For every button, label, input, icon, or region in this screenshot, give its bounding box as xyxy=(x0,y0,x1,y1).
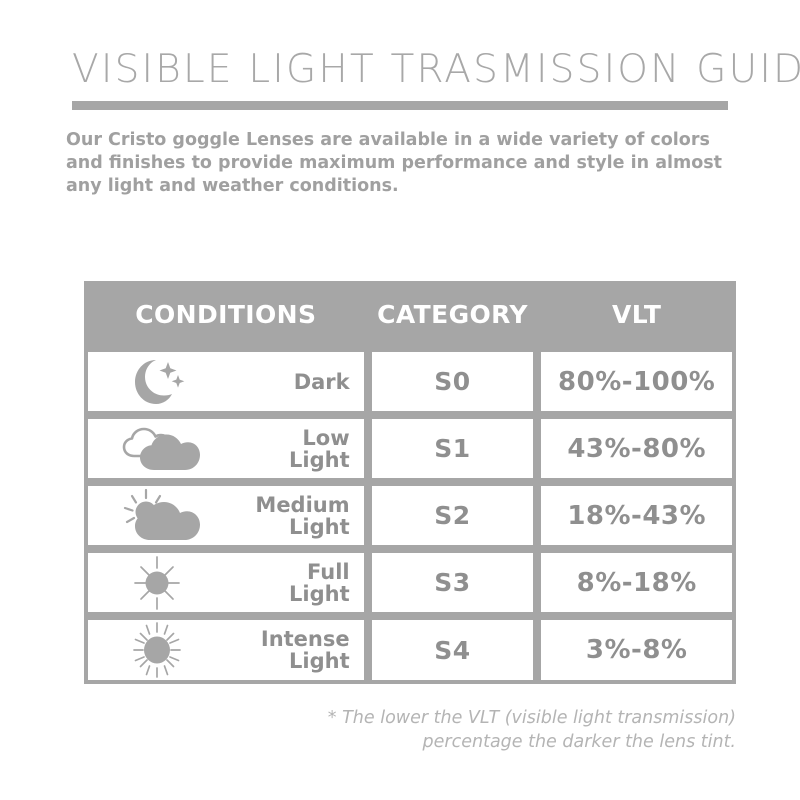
table-row: Intense Light S4 3%-8% xyxy=(84,616,736,684)
clouds-icon xyxy=(114,423,200,475)
footnote: * The lower the VLT (visible light trans… xyxy=(236,706,736,754)
table-row: Medium Light S2 18%-43% xyxy=(84,482,736,549)
vlt-cell: 3%-8% xyxy=(537,616,736,684)
vlt-table: CONDITIONS CATEGORY VLT Dark xyxy=(84,281,736,684)
vlt-cell: 43%-80% xyxy=(537,415,736,482)
conditions-cell: Medium Light xyxy=(84,482,368,549)
intro-paragraph: Our Cristo goggle Lenses are available i… xyxy=(66,129,746,198)
column-header-category: CATEGORY xyxy=(368,281,538,348)
vlt-value: 43%-80% xyxy=(541,434,732,464)
category-value: S1 xyxy=(372,434,534,463)
vlt-value: 80%-100% xyxy=(541,367,732,397)
conditions-cell: Full Light xyxy=(84,549,368,616)
category-cell: S3 xyxy=(368,549,538,616)
category-value: S2 xyxy=(372,501,534,530)
table-row: Full Light S3 8%-18% xyxy=(84,549,736,616)
category-cell: S1 xyxy=(368,415,538,482)
conditions-cell: Low Light xyxy=(84,415,368,482)
sun-intense-icon xyxy=(114,620,200,680)
page-title: VISIBLE LIGHT TRASMISSION GUIDE xyxy=(72,47,800,92)
table-row: Dark S0 80%-100% xyxy=(84,348,736,415)
conditions-cell: Intense Light xyxy=(84,616,368,684)
condition-label: Intense Light xyxy=(261,628,350,672)
sun-icon xyxy=(114,554,200,612)
category-cell: S4 xyxy=(368,616,538,684)
condition-label: Low Light xyxy=(289,427,350,471)
condition-label: Medium Light xyxy=(255,494,349,538)
condition-label: Full Light xyxy=(289,561,350,605)
category-cell: S2 xyxy=(368,482,538,549)
vlt-cell: 18%-43% xyxy=(537,482,736,549)
conditions-cell: Dark xyxy=(84,348,368,415)
table-row: Low Light S1 43%-80% xyxy=(84,415,736,482)
title-divider xyxy=(72,101,728,110)
moon-stars-icon xyxy=(114,357,200,407)
category-value: S0 xyxy=(372,367,534,396)
sun-cloud-icon xyxy=(114,488,200,544)
column-header-vlt: VLT xyxy=(537,281,736,348)
vlt-value: 18%-43% xyxy=(541,501,732,531)
vlt-value: 8%-18% xyxy=(541,568,732,598)
category-cell: S0 xyxy=(368,348,538,415)
category-value: S3 xyxy=(372,568,534,597)
condition-label: Dark xyxy=(294,371,350,393)
vlt-cell: 8%-18% xyxy=(537,549,736,616)
column-header-conditions: CONDITIONS xyxy=(84,281,368,348)
vlt-value: 3%-8% xyxy=(541,635,732,665)
table-header-row: CONDITIONS CATEGORY VLT xyxy=(84,281,736,348)
vlt-cell: 80%-100% xyxy=(537,348,736,415)
category-value: S4 xyxy=(372,636,534,665)
